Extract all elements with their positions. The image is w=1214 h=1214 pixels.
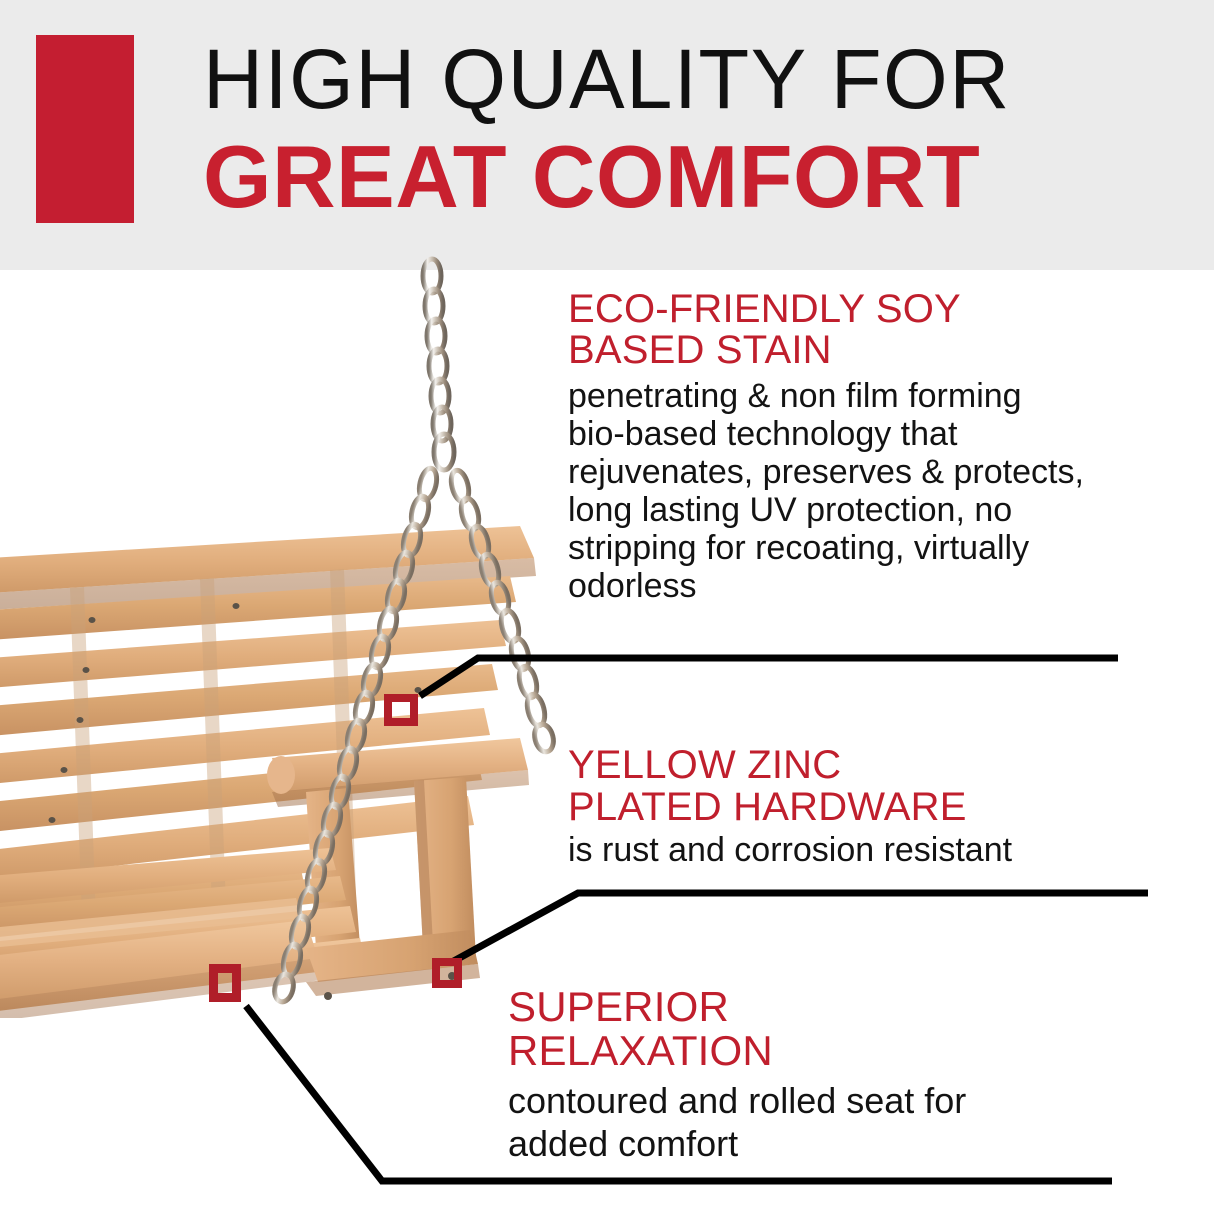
marker-eco-friendly-soy-based-stain[interactable] bbox=[384, 694, 418, 726]
callout-3-body-line-2: added comfort bbox=[508, 1122, 1168, 1165]
callout-yellow-zinc-plated-hardware: YELLOW ZINC PLATED HARDWARE is rust and … bbox=[568, 744, 1188, 869]
callout-2-title-line-1: YELLOW ZINC bbox=[568, 744, 1188, 786]
callout-1-body-line-3: rejuvenates, preserves & protects, bbox=[568, 453, 1168, 491]
callout-1-title-line-1: ECO-FRIENDLY SOY bbox=[568, 289, 1168, 330]
callout-1-body-line-4: long lasting UV protection, no bbox=[568, 491, 1168, 529]
callout-1-body-line-2: bio-based technology that bbox=[568, 415, 1168, 453]
marker-superior-relaxation[interactable] bbox=[209, 964, 241, 1002]
callout-2-title-line-2: PLATED HARDWARE bbox=[568, 786, 1188, 828]
porch-swing-illustration bbox=[0, 258, 560, 1018]
callout-2-body-line-1: is rust and corrosion resistant bbox=[568, 831, 1188, 869]
header-banner: HIGH QUALITY FOR GREAT COMFORT bbox=[0, 0, 1214, 270]
callout-1-title: ECO-FRIENDLY SOY BASED STAIN bbox=[568, 289, 1168, 371]
header-accent-bar bbox=[36, 35, 134, 223]
callout-3-body-line-1: contoured and rolled seat for bbox=[508, 1079, 1168, 1122]
callout-eco-friendly-soy-based-stain: ECO-FRIENDLY SOY BASED STAIN penetrating… bbox=[568, 289, 1168, 605]
callout-3-body: contoured and rolled seat for added comf… bbox=[508, 1079, 1168, 1165]
callout-1-body-line-6: odorless bbox=[568, 567, 1168, 605]
headline-line-1: HIGH QUALITY FOR bbox=[203, 37, 1153, 121]
callout-2-body: is rust and corrosion resistant bbox=[568, 831, 1188, 869]
infographic-page: HIGH QUALITY FOR GREAT COMFORT bbox=[0, 0, 1214, 1214]
callout-3-title: SUPERIOR RELAXATION bbox=[508, 985, 1168, 1073]
product-photo-porch-swing bbox=[0, 258, 560, 1018]
marker-yellow-zinc-plated-hardware[interactable] bbox=[432, 958, 462, 988]
callout-3-title-line-2: RELAXATION bbox=[508, 1029, 1168, 1073]
callout-1-title-line-2: BASED STAIN bbox=[568, 330, 1168, 371]
callout-3-title-line-1: SUPERIOR bbox=[508, 985, 1168, 1029]
callout-2-title: YELLOW ZINC PLATED HARDWARE bbox=[568, 744, 1188, 828]
callout-1-body: penetrating & non film forming bio-based… bbox=[568, 377, 1168, 605]
callout-1-body-line-5: stripping for recoating, virtually bbox=[568, 529, 1168, 567]
headline-line-2: GREAT COMFORT bbox=[203, 133, 1183, 221]
callout-1-body-line-1: penetrating & non film forming bbox=[568, 377, 1168, 415]
callout-superior-relaxation: SUPERIOR RELAXATION contoured and rolled… bbox=[508, 985, 1168, 1165]
